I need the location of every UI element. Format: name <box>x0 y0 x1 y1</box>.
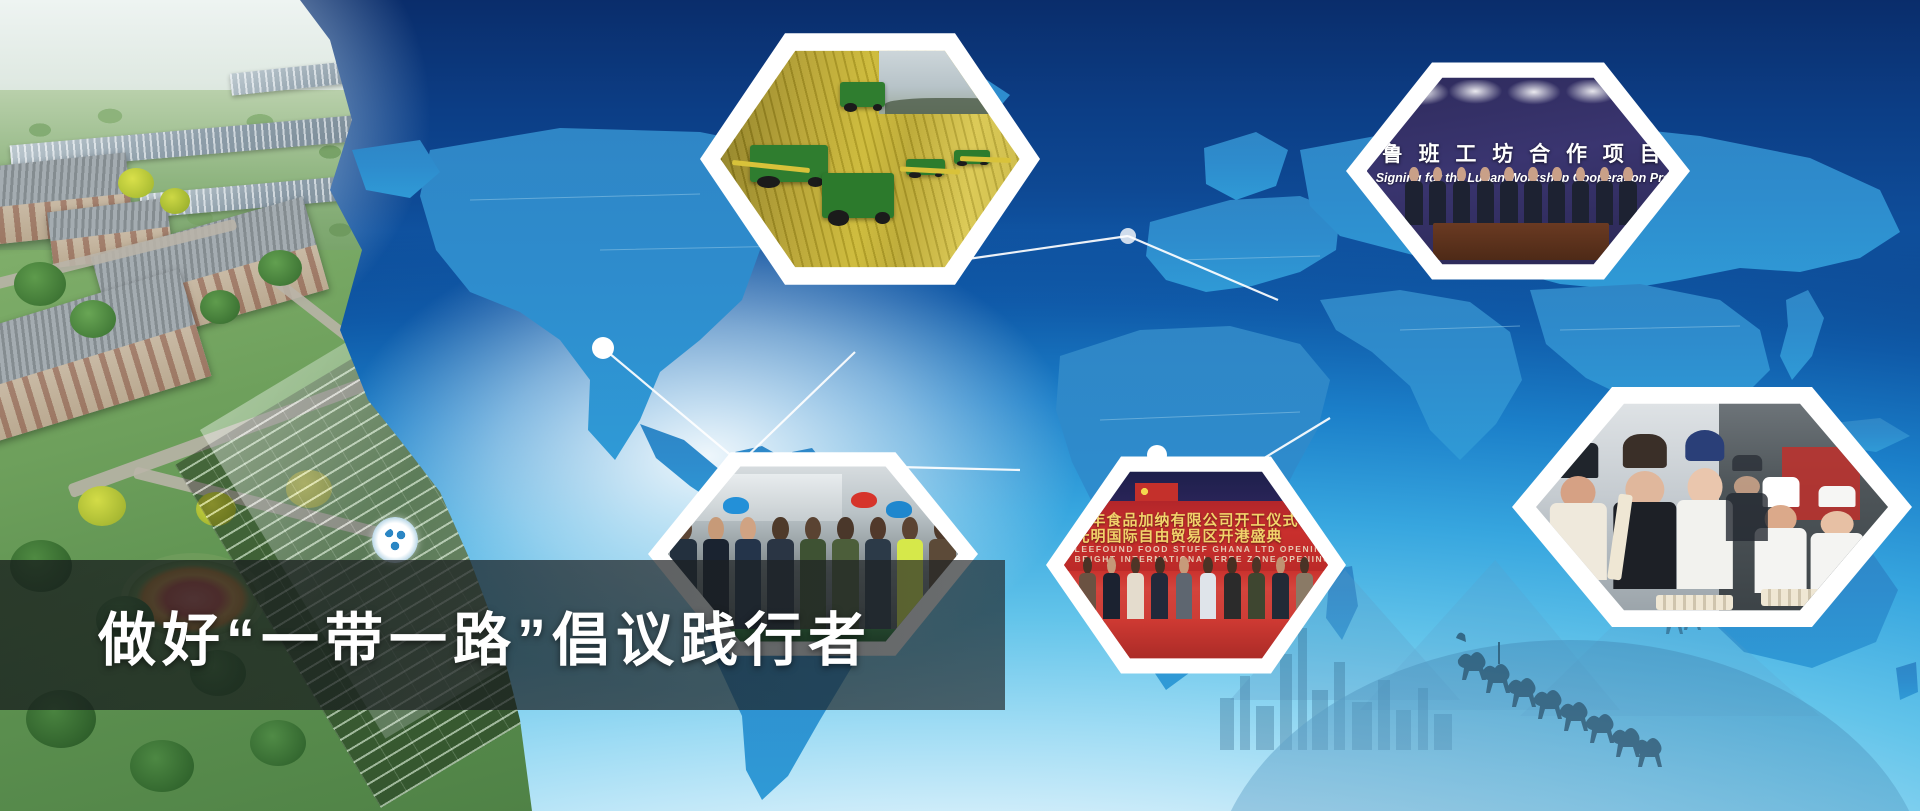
hex-photo-harvest <box>700 28 1040 290</box>
combine-harvester <box>840 82 885 107</box>
campus-tree <box>70 300 116 338</box>
campus-tree <box>258 250 302 286</box>
red-carpet <box>1064 619 1328 662</box>
campus-tree <box>160 188 190 214</box>
luban-stage-title-cn: 鲁 班 工 坊 合 作 项 目 签 约 仪 式 <box>1382 138 1661 168</box>
luban-delegates-row <box>1403 167 1639 225</box>
hex-photo-culinary-exchange <box>1512 382 1912 632</box>
background-staff <box>1726 455 1768 541</box>
banner-root: 鲁 班 工 坊 合 作 项 目 签 约 仪 式 Signing for the … <box>0 0 1920 811</box>
ghana-banner-line-3: LEEFOUND FOOD STUFF GHANA LTD OPENING CE… <box>1075 544 1321 554</box>
hex-photo-ghana-opening-ceremony: 利丰食品加纳有限公司开工仪式 光明国际自由贸易区开港盛典 LEEFOUND FO… <box>1046 452 1346 678</box>
china-flag-decoration <box>1135 483 1177 500</box>
campus-tree <box>250 720 306 766</box>
page-title: 做好“一带一路”倡议践行者 <box>98 560 998 710</box>
hard-hat-blue <box>723 497 749 513</box>
campus-tree <box>14 262 66 306</box>
hex-photo-luban-workshop: 鲁 班 工 坊 合 作 项 目 签 约 仪 式 Signing for the … <box>1346 58 1690 284</box>
campus-tree <box>78 486 126 526</box>
hard-hat-blue <box>886 501 912 517</box>
luban-signing-table <box>1433 223 1609 260</box>
chef-instructor <box>1550 443 1606 581</box>
campus-tree <box>200 290 240 324</box>
dumpling-tray <box>1656 595 1733 610</box>
chef-participant <box>1811 486 1864 594</box>
student-learner <box>1677 430 1733 589</box>
campus-tree <box>118 168 154 198</box>
dumpling-tray <box>1761 589 1867 606</box>
eco-logo-icon <box>372 517 418 563</box>
ghana-dignitaries-row <box>1077 557 1315 623</box>
combine-harvester <box>822 173 894 218</box>
campus-tree <box>130 740 194 792</box>
hard-hat-red <box>851 492 877 508</box>
